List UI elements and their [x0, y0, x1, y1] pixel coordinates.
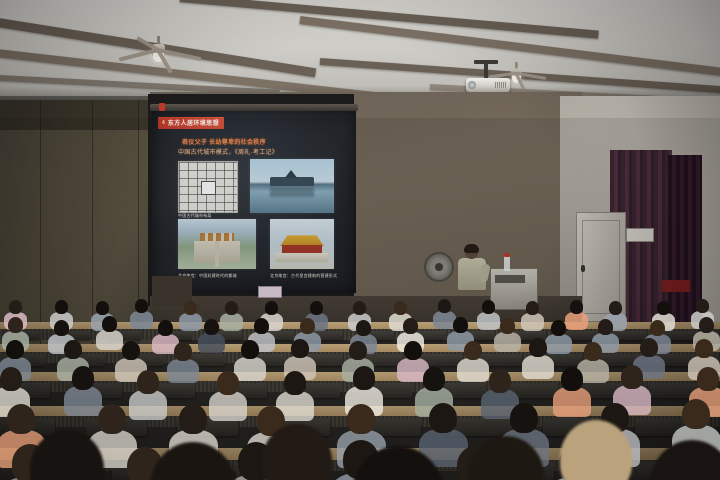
- slide-subtitle-2: 中国古代城市模式，《周礼·考工记》: [178, 147, 278, 156]
- audience-member: [551, 320, 566, 354]
- audience-member-head: [217, 371, 239, 395]
- audience-member-head: [96, 301, 109, 315]
- audience-member-foreground: [468, 436, 544, 480]
- audience-member: [204, 319, 219, 353]
- audience-member: [137, 370, 159, 420]
- audience-member-head: [356, 320, 371, 336]
- side-sign: [258, 286, 282, 298]
- audience-member-head: [8, 317, 23, 333]
- audience-member: [158, 320, 173, 354]
- audience-member-torso: [167, 359, 199, 383]
- audience-member-head: [204, 319, 219, 335]
- wall-left-upper: [0, 96, 160, 130]
- audience-member-head: [6, 340, 24, 359]
- audience-member-head: [135, 299, 148, 313]
- audience-member-torso: [553, 387, 592, 417]
- audience-member: [284, 371, 306, 421]
- audience-member-head: [72, 366, 94, 390]
- audience-member-torso: [545, 334, 571, 354]
- audience-member-head: [453, 317, 468, 333]
- audience-member-foreground: [150, 442, 236, 480]
- audience-member-head: [561, 367, 583, 391]
- audience-member-head: [150, 442, 236, 480]
- audience-member-head: [500, 318, 515, 334]
- audience-member-head: [347, 404, 375, 434]
- audience-member-head: [54, 320, 69, 336]
- audience-member-torso: [96, 330, 122, 350]
- audience-member-head: [438, 299, 451, 313]
- audience-member-head: [468, 436, 544, 480]
- audience-member-foreground: [352, 446, 444, 480]
- audience-member-head: [55, 300, 68, 314]
- audience-member-head: [598, 319, 613, 335]
- lecture-hall-photo: 4 东方人居环境思想 君仪父子 长幼尊卑的社会秩序 中国古代城市模式，《周礼·考…: [0, 0, 720, 480]
- screen-roller-bar[interactable]: [150, 104, 358, 111]
- audience-member-head: [137, 370, 159, 394]
- audience-member-head: [510, 403, 538, 433]
- audience-member-head: [695, 339, 713, 358]
- audience-member-foreground: [262, 424, 332, 480]
- water-bottle-cap: [504, 253, 510, 257]
- audience-member-foreground: [650, 440, 720, 480]
- audience-member-head: [682, 399, 710, 429]
- audience-member: [72, 366, 94, 416]
- audience-member-head: [0, 367, 22, 391]
- audience-member: [174, 342, 192, 383]
- audience-member-head: [584, 342, 602, 361]
- audience-member-head: [551, 320, 566, 336]
- slide-title-banner: 4 东方人居环境思想: [158, 117, 224, 129]
- audience-member-foreground: [560, 420, 632, 480]
- lecturer: [455, 246, 489, 302]
- audience-member-head: [699, 317, 714, 333]
- audience-member-torso: [209, 391, 248, 421]
- audience-member: [526, 301, 539, 330]
- slide-subtitle-1: 君仪父子 长幼尊卑的社会秩序: [182, 137, 266, 146]
- audience-member-head: [9, 300, 22, 314]
- audience-member-head: [489, 369, 511, 393]
- audience-member-head: [102, 316, 117, 332]
- screen-indicator-icon: [159, 103, 165, 111]
- water-bottle: [504, 256, 510, 271]
- audience-member-head: [262, 424, 332, 480]
- door-knob-icon[interactable]: [581, 265, 585, 272]
- audience-member: [241, 340, 259, 381]
- audience-member-head: [429, 403, 457, 433]
- audience-member: [570, 300, 583, 329]
- audience-member-torso: [522, 355, 554, 379]
- audience-member-head: [179, 404, 207, 434]
- audience-member-head: [64, 340, 82, 359]
- audience-member-torso: [521, 313, 544, 331]
- room-sign: [626, 228, 654, 242]
- audience-member-head: [696, 299, 709, 313]
- audience-member-head: [300, 318, 315, 334]
- audience-member-torso: [64, 386, 103, 416]
- slide-title: 东方人居环境思想: [168, 118, 219, 127]
- audience-member: [464, 341, 482, 382]
- audience-member-head: [640, 338, 658, 357]
- audience-member-head: [403, 318, 418, 334]
- audience-member-torso: [129, 390, 168, 420]
- floor-fan-icon: [424, 252, 454, 286]
- audience-member-head: [353, 301, 366, 315]
- audience-member: [225, 301, 238, 330]
- audience-member-head: [254, 318, 269, 334]
- audience-member: [217, 371, 239, 421]
- audience-member-head: [529, 338, 547, 357]
- audience-member-torso: [457, 358, 489, 382]
- slide-image-kaogongji-grid: [178, 161, 238, 213]
- audience-member-head: [404, 341, 422, 360]
- audience-member: [500, 318, 515, 352]
- audience-member-head: [265, 301, 278, 315]
- audience-member: [135, 299, 148, 328]
- slide-section-number: 4: [162, 120, 165, 126]
- projection-screen: 4 东方人居环境思想 君仪父子 长幼尊卑的社会秩序 中国古代城市模式，《周礼·考…: [152, 111, 356, 293]
- audience-member-head: [560, 420, 632, 480]
- audience-member-head: [158, 320, 173, 336]
- audience-member: [529, 338, 547, 379]
- slide-image-temple-reflection: [250, 159, 334, 213]
- audience-member-head: [482, 300, 495, 314]
- audience-member-head: [241, 340, 259, 359]
- audience-member: [184, 301, 197, 330]
- audience-member-head: [122, 341, 140, 360]
- slide-image-forbidden-city-aerial: [178, 219, 256, 269]
- audience-member-head: [423, 367, 445, 391]
- audience-member-head: [394, 301, 407, 315]
- audience-member-foreground: [30, 430, 104, 480]
- audience-member-head: [609, 301, 622, 315]
- audience-member: [102, 316, 117, 350]
- audience-member-head: [291, 339, 309, 358]
- audience-member: [404, 341, 422, 382]
- audience-member-head: [353, 366, 375, 390]
- slide-caption-hall: 北京故宫：古代皇宫建筑的营建形式: [270, 273, 337, 279]
- audience-member-torso: [494, 332, 520, 352]
- audience-member-head: [464, 341, 482, 360]
- audience-member: [482, 300, 495, 329]
- audience-member-torso: [198, 333, 224, 353]
- audience-member-head: [310, 301, 323, 315]
- audience-member-torso: [179, 313, 202, 331]
- audience-member-torso: [477, 312, 500, 330]
- audience-member-head: [174, 342, 192, 361]
- audience-member: [489, 369, 511, 419]
- audience-member-head: [284, 371, 306, 395]
- audience-member-head: [30, 430, 104, 480]
- audience-member-torso: [565, 312, 588, 330]
- audience-member-head: [657, 301, 670, 315]
- audience-member-torso: [220, 313, 243, 331]
- audience-member-head: [526, 301, 539, 315]
- audience-member-head: [621, 365, 643, 389]
- wall-sign: [662, 280, 690, 292]
- audience-member-head: [697, 367, 719, 391]
- audience-member-torso: [130, 311, 153, 329]
- audience-member-head: [650, 440, 720, 480]
- audience-member: [438, 299, 451, 328]
- audience-member-head: [650, 320, 665, 336]
- slide-image-palace-hall: [270, 219, 334, 269]
- audience-member-head: [352, 446, 444, 480]
- audience-member: [561, 367, 583, 417]
- audience-member-head: [225, 301, 238, 315]
- audience-member-head: [184, 301, 197, 315]
- audience-member-head: [349, 341, 367, 360]
- audience-member-head: [570, 300, 583, 314]
- audience-member: [584, 342, 602, 383]
